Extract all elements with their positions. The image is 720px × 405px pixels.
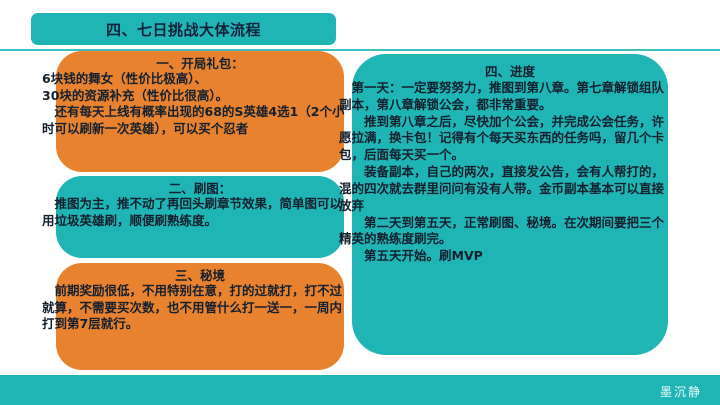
page-title: 四、七日挑战大体流程	[106, 19, 261, 40]
card-progress-plan-inner: 四、进度 第一天：一定要努努力，推图到第八章。第七章解锁组队副本，第八章解锁公会…	[352, 54, 668, 355]
card-secret-realm-heading: 三、秘境	[56, 268, 344, 284]
footer-bar: 墨沉静	[0, 375, 720, 405]
card-stage-farming-inner: 二、刷图： 推图为主，推不动了再回头刷章节效果，简单图可以用垃圾英雄刷，顺便刷熟…	[56, 176, 344, 258]
card-secret-realm-body: 前期奖励很低，不用特别在意，打的过就打，打不过就算，不需要买次数，也不用管什么打…	[42, 283, 354, 333]
card-stage-farming: 二、刷图： 推图为主，推不动了再回头刷章节效果，简单图可以用垃圾英雄刷，顺便刷熟…	[56, 176, 344, 258]
card-opening-gift: 一、开局礼包： 6块钱的舞女（性价比极高）、 30块的资源补充（性价比很高）。 …	[56, 51, 344, 172]
card-progress-plan-body: 第一天：一定要努努力，推图到第八章。第七章解锁组队副本，第八章解锁公会，都非常重…	[339, 80, 676, 265]
card-secret-realm-inner: 三、秘境 前期奖励很低，不用特别在意，打的过就打，打不过就算，不需要买次数，也不…	[56, 263, 344, 370]
slide-canvas: 四、七日挑战大体流程 一、开局礼包： 6块钱的舞女（性价比极高）、 30块的资源…	[0, 0, 720, 405]
card-progress-plan-heading: 四、进度	[352, 64, 668, 80]
card-progress-plan: 四、进度 第一天：一定要努努力，推图到第八章。第七章解锁组队副本，第八章解锁公会…	[352, 54, 668, 355]
card-stage-farming-heading: 二、刷图：	[56, 181, 344, 197]
card-stage-farming-body: 推图为主，推不动了再回头刷章节效果，简单图可以用垃圾英雄刷，顺便刷熟练度。	[42, 196, 354, 229]
card-opening-gift-heading: 一、开局礼包：	[56, 56, 344, 72]
card-secret-realm: 三、秘境 前期奖励很低，不用特别在意，打的过就打，打不过就算，不需要买次数，也不…	[56, 263, 344, 370]
watermark-label: 墨沉静	[660, 383, 702, 400]
card-opening-gift-inner: 一、开局礼包： 6块钱的舞女（性价比极高）、 30块的资源补充（性价比很高）。 …	[56, 51, 344, 172]
card-opening-gift-body: 6块钱的舞女（性价比极高）、 30块的资源补充（性价比很高）。 还有每天上线有概…	[42, 71, 354, 138]
slide-title-banner: 四、七日挑战大体流程	[31, 13, 336, 45]
